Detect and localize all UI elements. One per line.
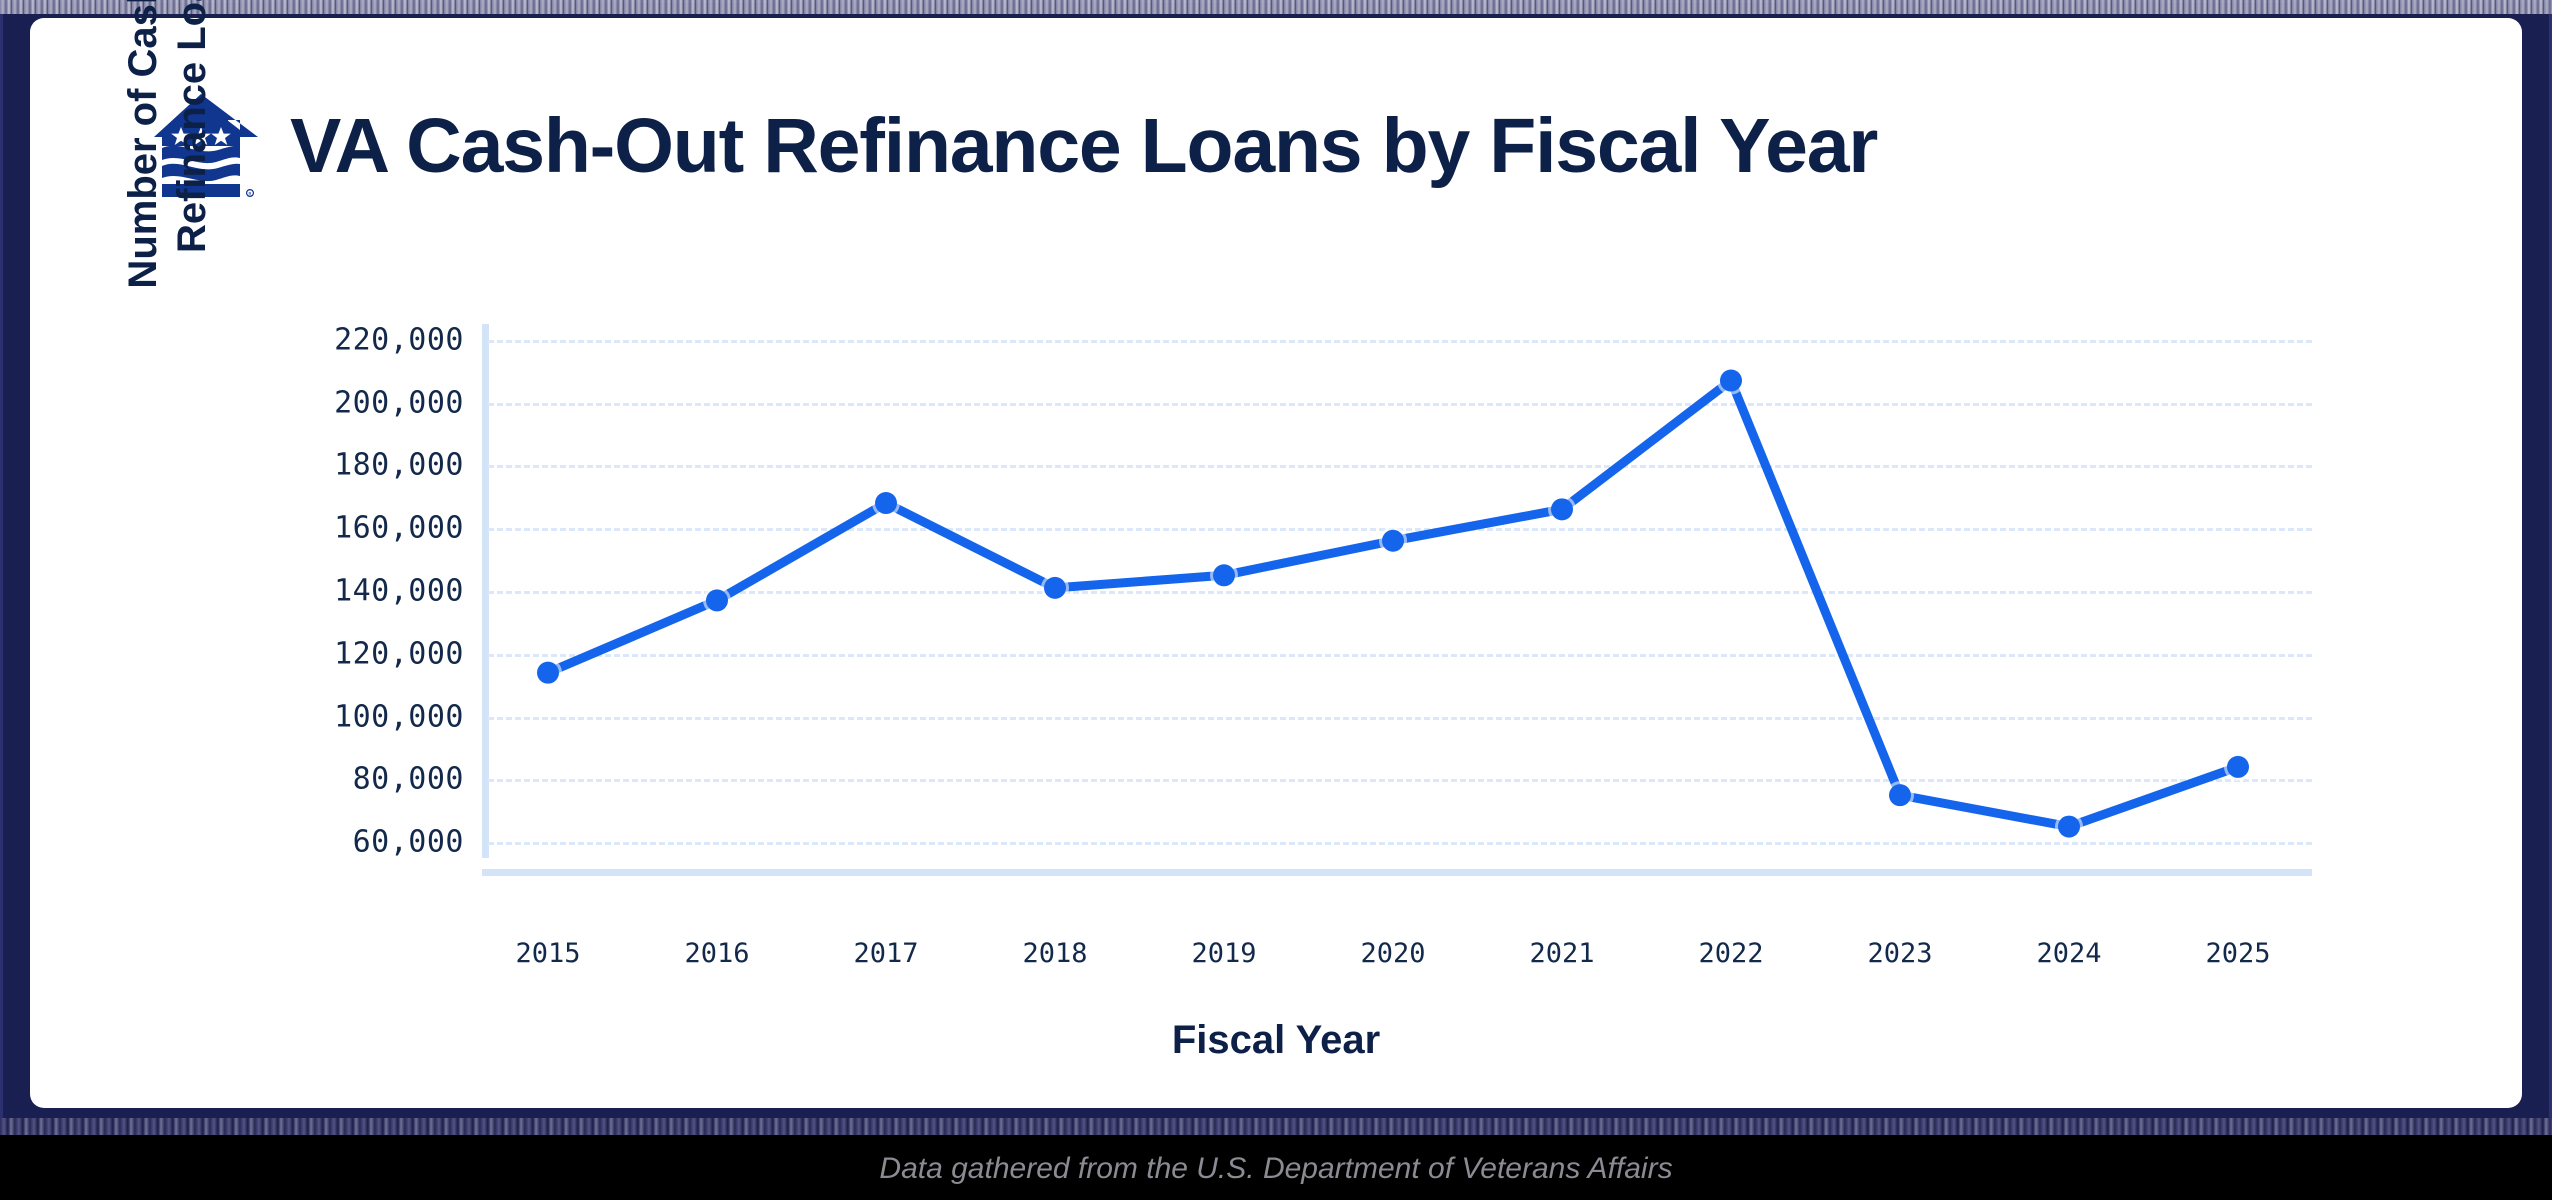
data-point-2021[interactable]	[1551, 498, 1573, 520]
data-point-2018[interactable]	[1044, 577, 1066, 599]
x-axis-ticks: 2015201620172018201920202021202220232024…	[482, 938, 2312, 982]
y-tick-label: 60,000	[292, 825, 464, 860]
frame-noise-top	[0, 0, 2552, 14]
y-tick-label: 180,000	[292, 448, 464, 483]
series-line	[548, 381, 2238, 827]
y-tick-label: 100,000	[292, 699, 464, 734]
screenshot-root: R VA Cash-Out Refinance Loans by Fiscal …	[0, 0, 2552, 1200]
x-tick-label: 2017	[853, 938, 918, 969]
x-axis-spine	[482, 869, 2312, 876]
x-tick-label: 2020	[1360, 938, 1425, 969]
y-tick-label: 120,000	[292, 636, 464, 671]
data-point-2022[interactable]	[1720, 370, 1742, 392]
y-tick-label: 140,000	[292, 574, 464, 609]
x-tick-label: 2025	[2205, 938, 2270, 969]
data-point-2016[interactable]	[706, 589, 728, 611]
x-tick-label: 2018	[1022, 938, 1087, 969]
x-tick-label: 2019	[1191, 938, 1256, 969]
x-tick-label: 2022	[1698, 938, 1763, 969]
x-axis-label: Fiscal Year	[30, 1018, 2522, 1063]
x-tick-label: 2015	[515, 938, 580, 969]
data-point-2019[interactable]	[1213, 564, 1235, 586]
y-axis-label-line1: Number of Cash-Out	[119, 0, 168, 289]
frame-noise-bottom	[0, 1118, 2552, 1135]
x-tick-label: 2024	[2036, 938, 2101, 969]
x-tick-label: 2016	[684, 938, 749, 969]
plot-area	[482, 324, 2312, 858]
x-tick-label: 2021	[1529, 938, 1594, 969]
chart-header: R VA Cash-Out Refinance Loans by Fiscal …	[140, 90, 1877, 202]
data-point-2025[interactable]	[2227, 756, 2249, 778]
y-axis-label-line2: Refinance Loans	[168, 0, 217, 289]
data-point-2024[interactable]	[2058, 816, 2080, 838]
y-axis-ticks: 60,00080,000100,000120,000140,000160,000…	[292, 308, 464, 868]
data-point-2015[interactable]	[537, 662, 559, 684]
page-title: VA Cash-Out Refinance Loans by Fiscal Ye…	[290, 102, 1877, 191]
y-tick-label: 160,000	[292, 511, 464, 546]
y-tick-label: 220,000	[292, 322, 464, 357]
chart-card: R VA Cash-Out Refinance Loans by Fiscal …	[30, 18, 2522, 1108]
source-caption: Data gathered from the U.S. Department o…	[0, 1152, 2552, 1186]
y-tick-label: 200,000	[292, 385, 464, 420]
y-axis-label: Number of Cash-Out Refinance Loans	[108, 0, 228, 403]
y-tick-label: 80,000	[292, 762, 464, 797]
data-point-2023[interactable]	[1889, 784, 1911, 806]
data-point-2017[interactable]	[875, 492, 897, 514]
x-tick-label: 2023	[1867, 938, 1932, 969]
data-point-2020[interactable]	[1382, 530, 1404, 552]
line-series	[482, 324, 2312, 858]
